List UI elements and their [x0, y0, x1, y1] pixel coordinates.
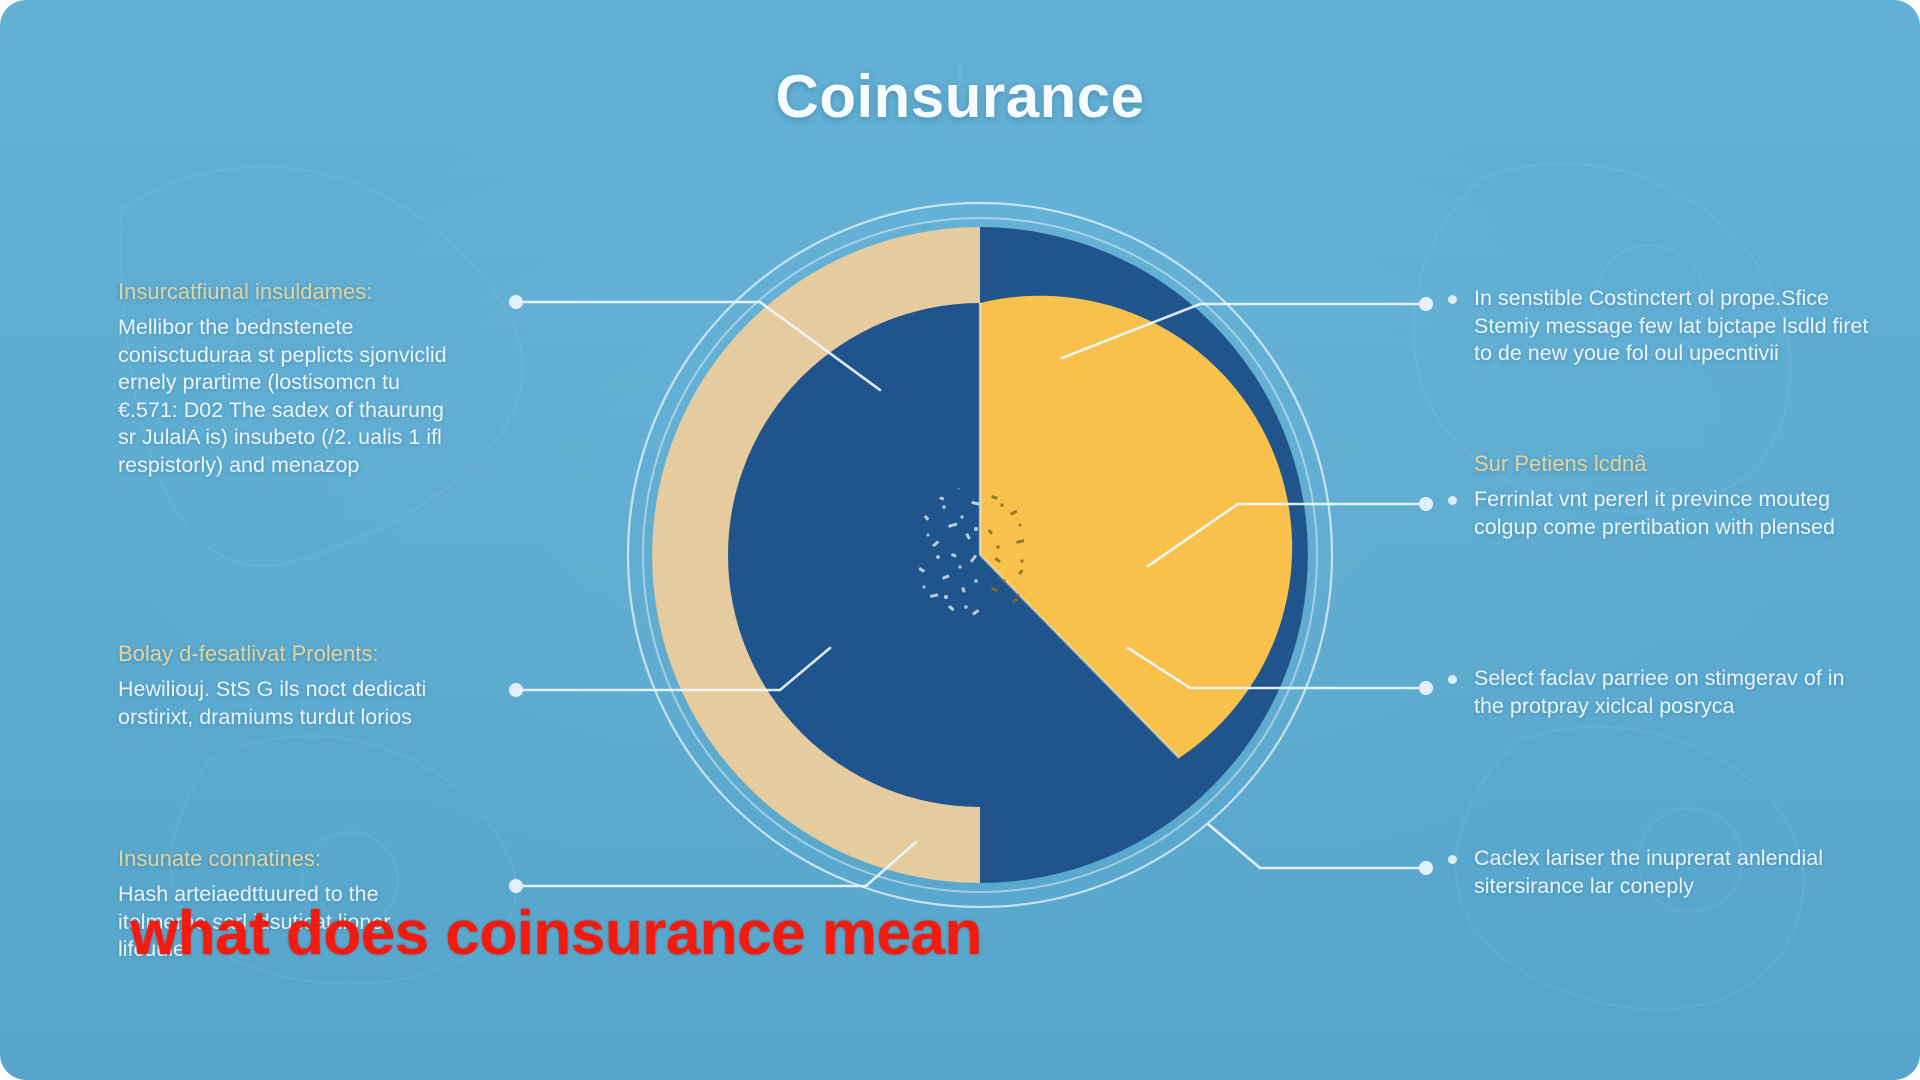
- connector-left-2: [516, 648, 830, 690]
- bullet-icon: [1448, 496, 1457, 505]
- connector-right-4: [1208, 824, 1426, 868]
- left-block-1: Insurcatfiunal insuldames: Mellibor the …: [118, 278, 448, 479]
- left-block-1-heading: Insurcatfiunal insuldames:: [118, 278, 448, 305]
- right-block-3-text: Select faclav parriee on stimgerav of in…: [1474, 666, 1844, 718]
- right-block-4-text: Caclex lariser the inuprerat anlendial s…: [1474, 846, 1823, 898]
- connector-dot-left-3: [509, 879, 523, 893]
- connector-right-1: [1062, 304, 1426, 358]
- connector-left-3: [516, 842, 916, 886]
- bullet-icon: [1448, 855, 1457, 864]
- right-block-2-text: Ferrinlat vnt pererl it prevince mouteg …: [1474, 487, 1835, 539]
- connector-dot-right-2: [1419, 497, 1433, 511]
- connector-dot-right-1: [1419, 297, 1433, 311]
- right-block-1-body: In senstible Costinctert ol prope.Sfice …: [1440, 285, 1870, 368]
- left-block-1-body: Mellibor the bednstenete conisctuduraa s…: [118, 314, 448, 479]
- connector-dot-right-3: [1419, 681, 1433, 695]
- right-block-2-body: Ferrinlat vnt pererl it prevince mouteg …: [1440, 486, 1870, 541]
- right-block-4-body: Caclex lariser the inuprerat anlendial s…: [1440, 845, 1870, 900]
- connector-dot-left-1: [509, 295, 523, 309]
- right-block-4: Caclex lariser the inuprerat anlendial s…: [1440, 845, 1870, 900]
- left-block-2-body: Hewiliouj. StS G ils noct dedicati orsti…: [118, 676, 448, 731]
- bullet-icon: [1448, 675, 1457, 684]
- right-block-1: In senstible Costinctert ol prope.Sfice …: [1440, 285, 1870, 368]
- right-block-2: Sur Petiens lcdnâ Ferrinlat vnt pererl i…: [1440, 450, 1870, 541]
- connector-left-1: [516, 302, 880, 390]
- bullet-icon: [1448, 295, 1457, 304]
- right-block-3: Select faclav parriee on stimgerav of in…: [1440, 665, 1870, 720]
- connector-right-2: [1148, 504, 1426, 566]
- right-block-3-body: Select faclav parriee on stimgerav of in…: [1440, 665, 1870, 720]
- right-block-2-heading: Sur Petiens lcdnâ: [1440, 450, 1870, 477]
- left-block-2-heading: Bolay d-fesatlivat Prolents:: [118, 640, 448, 667]
- connector-right-3: [1128, 648, 1426, 688]
- query-overlay-text: what does coinsurance mean: [130, 898, 982, 969]
- connector-dot-left-2: [509, 683, 523, 697]
- left-block-2: Bolay d-fesatlivat Prolents: Hewiliouj. …: [118, 640, 448, 731]
- right-block-1-text: In senstible Costinctert ol prope.Sfice …: [1474, 286, 1868, 365]
- infographic-canvas: Coinsurance: [0, 0, 1920, 1080]
- left-block-3-heading: Insunate connatines:: [118, 845, 448, 872]
- connector-dot-right-4: [1419, 861, 1433, 875]
